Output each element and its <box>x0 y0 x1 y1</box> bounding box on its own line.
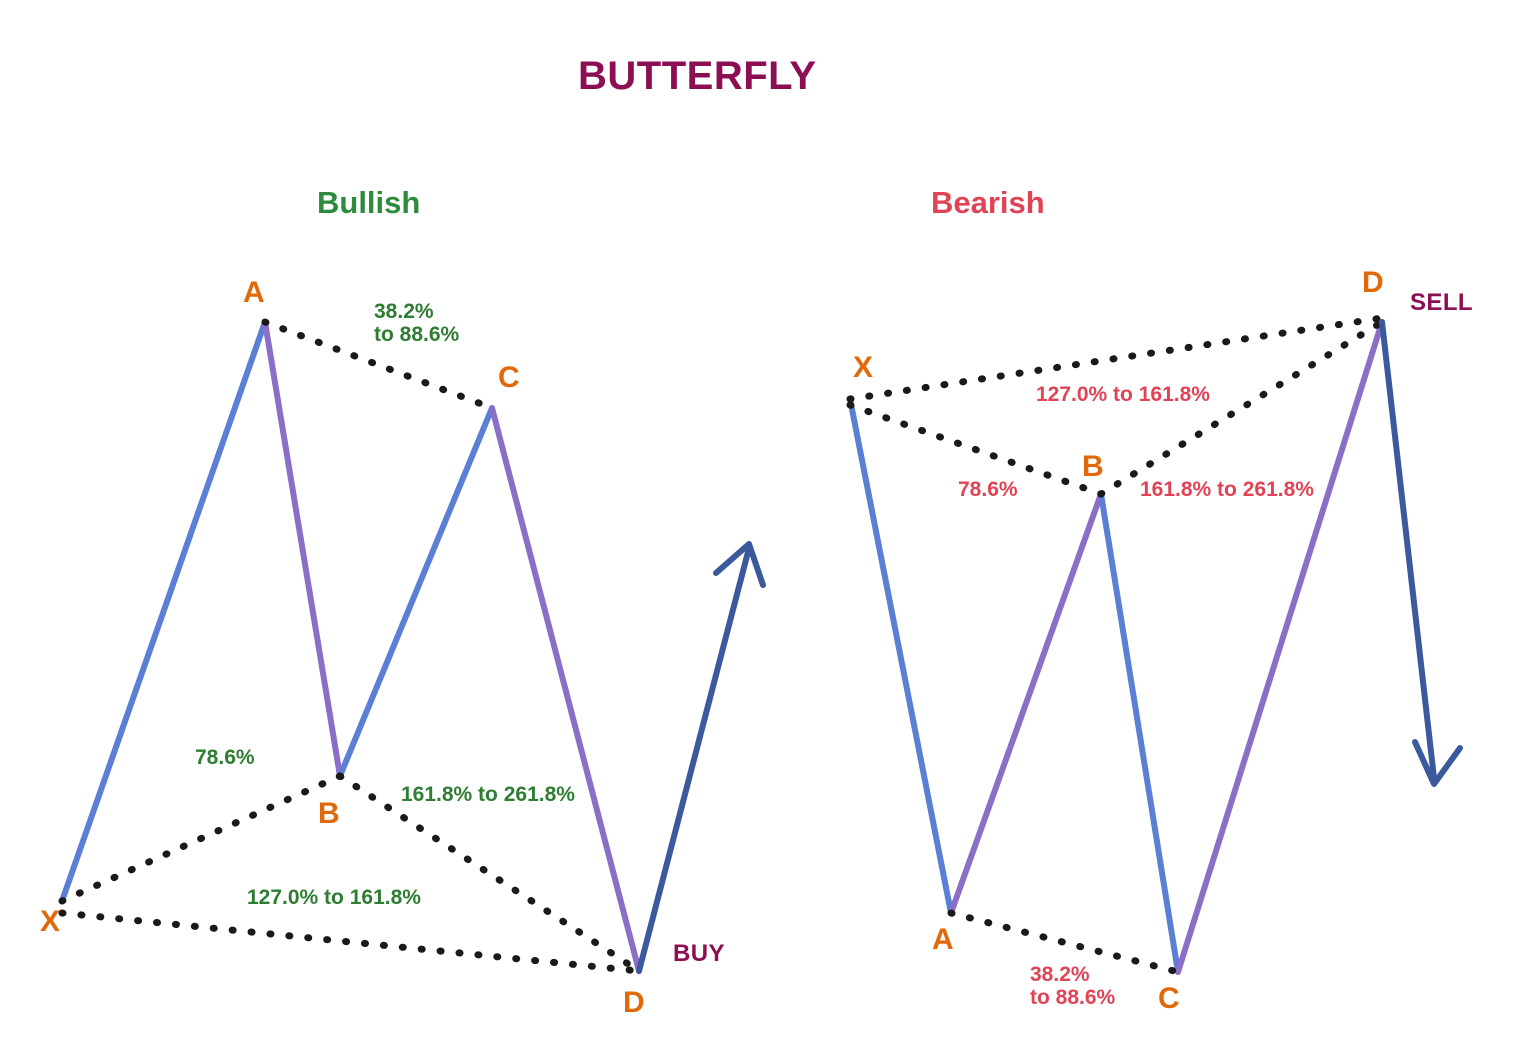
bullish-leg-BC <box>340 408 492 776</box>
bearish-signal-label: SELL <box>1410 289 1473 317</box>
bearish-heading: Bearish <box>931 185 1045 222</box>
bullish-ratio-AC-line2: to 88.6% <box>374 323 459 348</box>
bearish-point-B: B <box>1082 449 1104 484</box>
bullish-point-D: D <box>623 985 645 1020</box>
bullish-point-C: C <box>498 360 520 395</box>
bearish-legs <box>850 322 1382 972</box>
bullish-arrow-shaft <box>639 552 748 971</box>
bearish-leg-XA <box>850 399 951 913</box>
bearish-point-A: A <box>932 922 954 957</box>
bearish-leg-BC <box>1101 494 1178 972</box>
bullish-ratio-XD: 127.0% to 161.8% <box>247 886 421 911</box>
bullish-point-X: A <box>243 275 265 310</box>
bullish-signal-arrow <box>639 544 763 971</box>
bearish-fib-lines <box>850 318 1382 972</box>
bearish-ratio-XD: 127.0% to 161.8% <box>1036 383 1210 408</box>
bullish-leg-AB <box>265 322 340 776</box>
bearish-arrow-shaft <box>1382 322 1434 778</box>
page-title: BUTTERFLY <box>578 53 817 100</box>
bearish-leg-CD <box>1178 322 1382 972</box>
bullish-signal-label: BUY <box>673 940 725 968</box>
bearish-ratio-AC-line2: to 88.6% <box>1030 986 1115 1011</box>
bearish-ratio-AC-line1: 38.2% <box>1030 963 1090 988</box>
bearish-fib-BD <box>1101 322 1382 494</box>
bearish-point-X: X <box>853 350 873 385</box>
bullish-point-label-X: X <box>40 904 60 939</box>
bullish-ratio-XB: 78.6% <box>195 746 255 771</box>
bearish-point-D: D <box>1362 265 1384 300</box>
bullish-leg-CD <box>492 408 639 971</box>
bullish-fib-XD <box>62 913 639 971</box>
bearish-leg-AB <box>951 494 1101 913</box>
bullish-legs <box>62 322 639 971</box>
bearish-arrow-head <box>1415 742 1460 784</box>
bullish-fib-XB <box>62 776 340 901</box>
pattern-svg <box>0 0 1536 1044</box>
bearish-signal-arrow <box>1382 322 1460 784</box>
diagram-canvas: BUTTERFLY Bullish A C B X D 38.2% to 88.… <box>0 0 1536 1044</box>
bullish-ratio-AC-line1: 38.2% <box>374 300 434 325</box>
bullish-point-B: B <box>318 796 340 831</box>
bearish-point-C: C <box>1158 981 1180 1016</box>
bullish-ratio-BD: 161.8% to 261.8% <box>401 783 575 808</box>
bullish-leg-XA <box>62 322 265 901</box>
bullish-heading: Bullish <box>317 185 420 222</box>
bearish-ratio-BD: 161.8% to 261.8% <box>1140 478 1314 503</box>
bearish-ratio-XB: 78.6% <box>958 478 1018 503</box>
